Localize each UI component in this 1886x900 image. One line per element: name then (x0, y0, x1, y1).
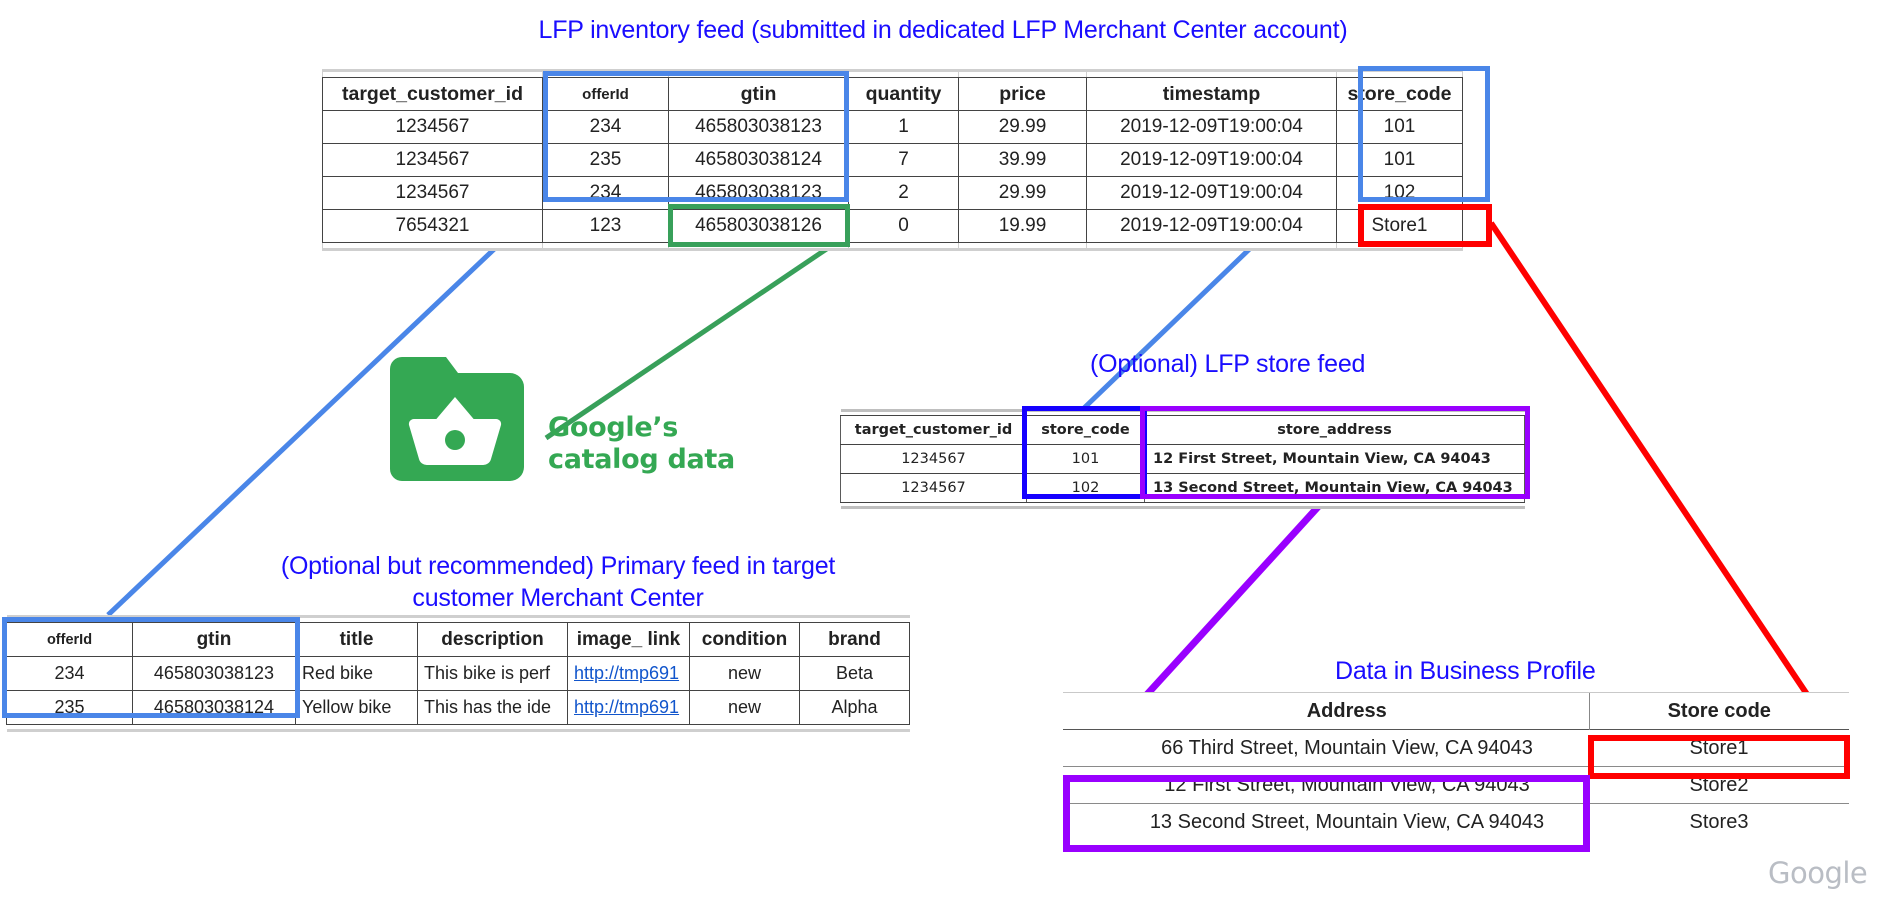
table-row: 234 465803038123 Red bike This bike is p… (7, 657, 910, 691)
cell-image-link[interactable]: http://tmp691 (568, 691, 690, 725)
col-timestamp: timestamp (1087, 78, 1337, 111)
cell-store-code: 102 (1027, 474, 1145, 503)
cell-address: 66 Third Street, Mountain View, CA 94043 (1105, 730, 1589, 767)
cell-offerid: 234 (543, 177, 669, 210)
col-brand: brand (800, 623, 910, 657)
cell-store-code: 101 (1337, 144, 1463, 177)
col-store-code: store_code (1027, 416, 1145, 445)
cell-price: 29.99 (959, 177, 1087, 210)
col-description: description (418, 623, 568, 657)
cell-price: 39.99 (959, 144, 1087, 177)
image-link[interactable]: http://tmp691 (574, 663, 679, 683)
table-row: 66 Third Street, Mountain View, CA 94043… (1063, 730, 1849, 767)
cell-description: This has the ide (418, 691, 568, 725)
cell-title: Yellow bike (296, 691, 418, 725)
cell-target-customer-id: 1234567 (841, 474, 1027, 503)
cell-timestamp: 2019-12-09T19:00:04 (1087, 177, 1337, 210)
table-row: 7654321 123 465803038126 0 19.99 2019-12… (323, 210, 1463, 243)
col-store-address: store_address (1145, 416, 1525, 445)
diagram-canvas: LFP inventory feed (submitted in dedicat… (0, 0, 1886, 900)
cell-title: Red bike (296, 657, 418, 691)
cell-gtin: 465803038124 (669, 144, 849, 177)
col-gtin: gtin (133, 623, 296, 657)
cell-store-code: Store3 (1589, 804, 1849, 841)
table-row: 235 465803038124 Yellow bike This has th… (7, 691, 910, 725)
spacer-cell (1063, 804, 1105, 841)
table-rail-bottom (7, 725, 910, 731)
table-rail-bottom (841, 503, 1525, 508)
cell-brand: Alpha (800, 691, 910, 725)
cell-offerid: 234 (7, 657, 133, 691)
cell-quantity: 0 (849, 210, 959, 243)
lfp-store-feed-table: target_customer_id store_code store_addr… (840, 409, 1525, 509)
cell-store-code: 101 (1337, 111, 1463, 144)
col-price: price (959, 78, 1087, 111)
cell-gtin: 465803038123 (133, 657, 296, 691)
col-title: title (296, 623, 418, 657)
google-watermark: Google (1768, 856, 1867, 890)
cell-offerid: 235 (7, 691, 133, 725)
col-gtin: gtin (669, 78, 849, 111)
cell-store-code: Store2 (1589, 767, 1849, 804)
table-row: 1234567 235 465803038124 7 39.99 2019-12… (323, 144, 1463, 177)
cell-gtin: 465803038123 (669, 111, 849, 144)
col-condition: condition (690, 623, 800, 657)
table-row: 13 Second Street, Mountain View, CA 9404… (1063, 804, 1849, 841)
cell-target-customer-id: 1234567 (323, 111, 543, 144)
spacer-cell (1063, 730, 1105, 767)
inventory-feed-title: LFP inventory feed (submitted in dedicat… (343, 14, 1543, 46)
cell-price: 29.99 (959, 111, 1087, 144)
cell-brand: Beta (800, 657, 910, 691)
cell-quantity: 7 (849, 144, 959, 177)
spacer-cell (1063, 693, 1105, 730)
col-image-link: image_ link (568, 623, 690, 657)
cell-timestamp: 2019-12-09T19:00:04 (1087, 111, 1337, 144)
cell-gtin: 465803038123 (669, 177, 849, 210)
col-quantity: quantity (849, 78, 959, 111)
cell-offerid: 235 (543, 144, 669, 177)
cell-address: 13 Second Street, Mountain View, CA 9404… (1105, 804, 1589, 841)
table-rail-bottom (323, 243, 1463, 250)
table-rail-top (323, 71, 1463, 78)
table-header-row: target_customer_id offerId gtin quantity… (323, 78, 1463, 111)
table-row: 1234567 234 465803038123 1 29.99 2019-12… (323, 111, 1463, 144)
catalog-label-line2: catalog data (548, 444, 735, 476)
table-row: 1234567 102 13 Second Street, Mountain V… (841, 474, 1525, 503)
cell-timestamp: 2019-12-09T19:00:04 (1087, 210, 1337, 243)
col-target-customer-id: target_customer_id (323, 78, 543, 111)
table-row: 1234567 101 12 First Street, Mountain Vi… (841, 445, 1525, 474)
google-catalog-data-label: Google’s catalog data (548, 412, 735, 476)
col-offerid: offerId (543, 78, 669, 111)
business-profile-table: Address Store code 66 Third Street, Moun… (1063, 692, 1849, 841)
cell-target-customer-id: 7654321 (323, 210, 543, 243)
cell-store-address: 12 First Street, Mountain View, CA 94043 (1145, 445, 1525, 474)
cell-condition: new (690, 691, 800, 725)
google-catalog-folder-icon (380, 355, 530, 483)
cell-gtin: 465803038124 (133, 691, 296, 725)
col-store-code: store_code (1337, 78, 1463, 111)
primary-feed-title-line1: (Optional but recommended) Primary feed … (250, 550, 866, 582)
cell-target-customer-id: 1234567 (323, 177, 543, 210)
cell-condition: new (690, 657, 800, 691)
business-profile-title: Data in Business Profile (1335, 655, 1715, 687)
lfp-inventory-feed-table: target_customer_id offerId gtin quantity… (322, 69, 1463, 251)
cell-store-code: Store1 (1589, 730, 1849, 767)
table-row: 1234567 234 465803038123 2 29.99 2019-12… (323, 177, 1463, 210)
cell-store-code: 101 (1027, 445, 1145, 474)
cell-offerid: 123 (543, 210, 669, 243)
cell-image-link[interactable]: http://tmp691 (568, 657, 690, 691)
cell-quantity: 1 (849, 111, 959, 144)
cell-target-customer-id: 1234567 (323, 144, 543, 177)
table-header-row: offerId gtin title description image_ li… (7, 623, 910, 657)
col-offerid: offerId (7, 623, 133, 657)
table-row: 12 First Street, Mountain View, CA 94043… (1063, 767, 1849, 804)
cell-gtin: 465803038126 (669, 210, 849, 243)
primary-feed-title: (Optional but recommended) Primary feed … (250, 550, 866, 614)
catalog-label-line1: Google’s (548, 412, 735, 444)
col-address: Address (1105, 693, 1589, 730)
cell-address: 12 First Street, Mountain View, CA 94043 (1105, 767, 1589, 804)
cell-store-address: 13 Second Street, Mountain View, CA 9404… (1145, 474, 1525, 503)
cell-target-customer-id: 1234567 (841, 445, 1027, 474)
cell-offerid: 234 (543, 111, 669, 144)
col-target-customer-id: target_customer_id (841, 416, 1027, 445)
cell-quantity: 2 (849, 177, 959, 210)
cell-description: This bike is perf (418, 657, 568, 691)
image-link[interactable]: http://tmp691 (574, 697, 679, 717)
table-header-row: target_customer_id store_code store_addr… (841, 416, 1525, 445)
cell-price: 19.99 (959, 210, 1087, 243)
connector-gtin-to-catalog (546, 248, 828, 438)
cell-store-code: 102 (1337, 177, 1463, 210)
table-header-row: Address Store code (1063, 693, 1849, 730)
spacer-cell (1063, 767, 1105, 804)
cell-store-code: Store1 (1337, 210, 1463, 243)
primary-feed-title-line2: customer Merchant Center (250, 582, 866, 614)
col-store-code: Store code (1589, 693, 1849, 730)
primary-feed-table: offerId gtin title description image_ li… (6, 615, 910, 732)
cell-timestamp: 2019-12-09T19:00:04 (1087, 144, 1337, 177)
store-feed-title: (Optional) LFP store feed (1090, 348, 1510, 380)
